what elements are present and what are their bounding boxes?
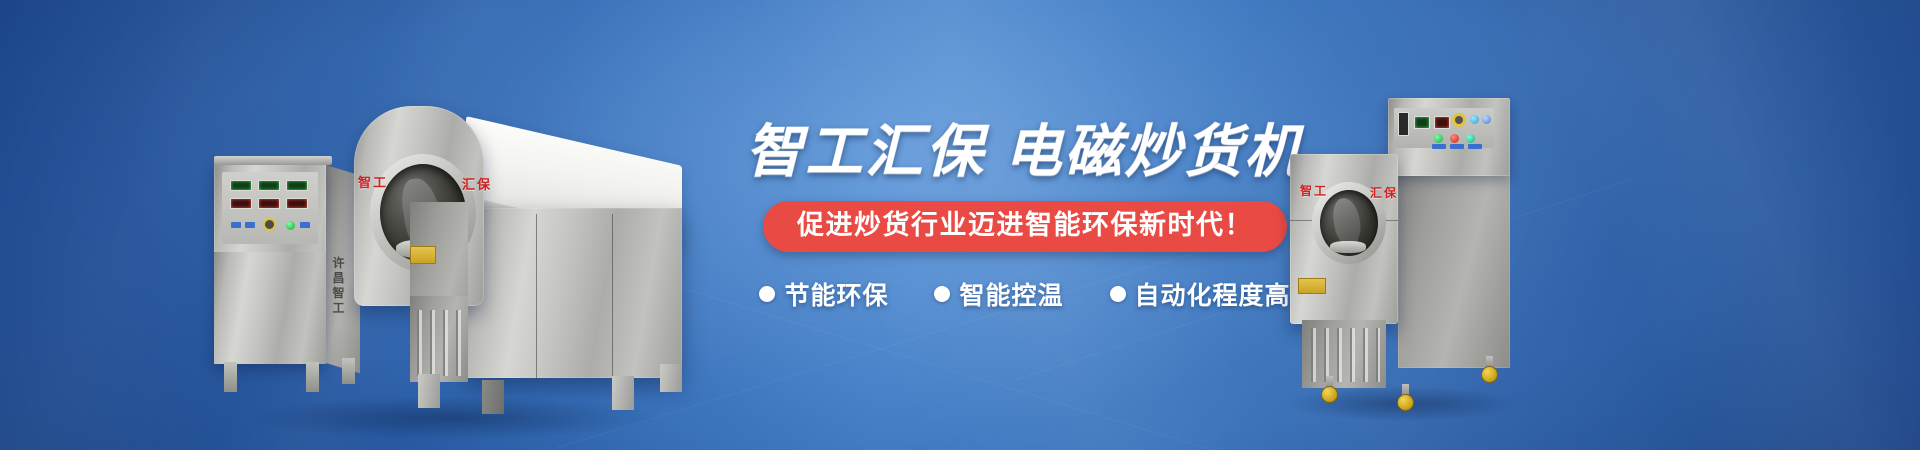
indicator-led[interactable] [1450, 134, 1459, 143]
drum-brand-right: 汇保 [462, 174, 492, 193]
page-title: 智工汇保 电磁炒货机 [720, 124, 1330, 181]
drum-vane [1331, 196, 1363, 247]
drum-brand-right: 汇保 [1370, 184, 1398, 201]
machine-foot [482, 380, 504, 414]
nameplate [410, 246, 436, 264]
cabinet-leg [306, 362, 319, 392]
body-panel-seam [612, 214, 613, 380]
digital-meter [258, 180, 280, 191]
machine-body [466, 208, 682, 378]
subheadline-wrapper: 促进炒货行业迈进智能环保新时代！ [720, 201, 1330, 252]
panel-label [231, 222, 241, 228]
feature-label: 自动化程度高 [1135, 276, 1291, 312]
feature-item-energy-saving: 节能环保 [759, 276, 888, 312]
digital-meter [1414, 116, 1430, 129]
body-panel-seam [536, 214, 537, 380]
cabinet-vertical-brand-text: 许昌智工 [330, 256, 348, 316]
indicator-led[interactable] [1466, 134, 1475, 143]
control-panel [222, 172, 318, 244]
feature-item-smart-temperature: 智能控温 [934, 276, 1063, 312]
cabinet-leg [224, 362, 237, 392]
digital-meter [230, 180, 252, 191]
ground-shadow [244, 396, 664, 440]
nameplate [1298, 278, 1326, 294]
feature-item-automation: 自动化程度高 [1110, 276, 1291, 312]
feature-label: 智能控温 [959, 276, 1063, 312]
selector-knob[interactable] [1452, 113, 1466, 127]
filled-circle-bullet-icon [934, 286, 950, 302]
digital-meter [1434, 116, 1450, 129]
product-image-small-roaster: 智工 汇保 [1290, 98, 1510, 428]
panel-label [1450, 144, 1464, 149]
feature-label: 节能环保 [784, 276, 888, 312]
digital-meter [230, 198, 252, 209]
indicator-led [286, 221, 295, 230]
selector-knob[interactable] [263, 218, 276, 231]
filled-circle-bullet-icon [759, 286, 775, 302]
control-panel [1394, 108, 1494, 148]
machine-foot [612, 376, 634, 410]
subheadline-pill: 促进炒货行业迈进智能环保新时代！ [763, 201, 1287, 252]
digital-meter [258, 198, 280, 209]
drum-vane [1330, 241, 1366, 253]
indicator-led [1434, 134, 1443, 143]
digital-meter [286, 180, 308, 191]
digital-meter [286, 198, 308, 209]
panel-label [1432, 144, 1446, 149]
machine-foot [418, 374, 440, 408]
cabinet-leg [342, 358, 355, 384]
feature-list: 节能环保 智能控温 自动化程度高 [720, 276, 1330, 312]
panel-label [300, 222, 310, 228]
drum-brand-left: 智工 [1300, 182, 1328, 199]
filled-circle-bullet-icon [1110, 286, 1126, 302]
caster-wheel [1481, 366, 1498, 383]
machine-foot [660, 364, 682, 392]
caster-wheel [1321, 386, 1338, 403]
indicator-led [1482, 115, 1491, 124]
cabinet-top [214, 156, 332, 165]
background-streak [1439, 0, 1920, 450]
indicator-led [1470, 115, 1479, 124]
banner-copy-block: 智工汇保 电磁炒货机 促进炒货行业迈进智能环保新时代！ 节能环保 智能控温 自动… [720, 124, 1330, 312]
panel-label [1468, 144, 1482, 149]
caster-wheel [1397, 394, 1414, 411]
panel-label [245, 222, 255, 228]
product-image-large-roaster: 许昌智工 智工 汇保 [214, 96, 674, 426]
cabinet-lower-door [214, 252, 326, 364]
product-hero-banner: 许昌智工 智工 汇保 智工汇保 电磁炒货机 促进炒货行业迈进智能环保新时代！ [0, 0, 1920, 450]
ventilation-louvers [1308, 328, 1380, 382]
digital-meter [1398, 112, 1409, 136]
ventilation-louvers [414, 310, 464, 376]
drum-brand-left: 智工 [358, 172, 388, 191]
